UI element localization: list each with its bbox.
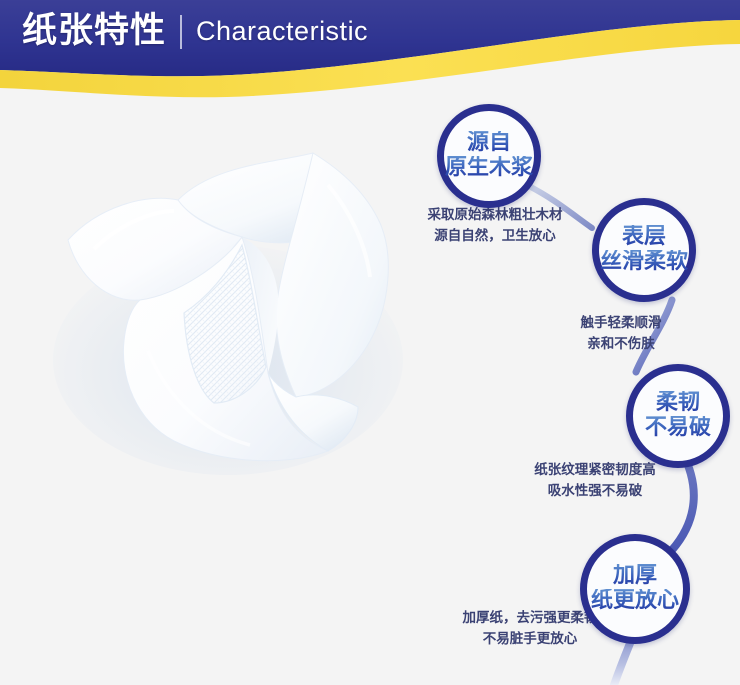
bubble-line-1: 加厚 [613, 564, 657, 589]
feature-caption-surface: 触手轻柔顺滑 亲和不伤肤 [531, 313, 711, 355]
feature-bubble-tough[interactable]: 柔韧 不易破 [626, 364, 730, 468]
bubble-line-1: 源自 [467, 131, 511, 156]
bubble-line-2: 原生木浆 [445, 156, 533, 181]
feature-page: 纸张特性 Characteristic [0, 0, 740, 685]
header-title-group: 纸张特性 Characteristic [22, 14, 368, 49]
feature-caption-source: 采取原始森林粗壮木材 源自自然，卫生放心 [395, 205, 595, 247]
caption-line-2: 吸水性强不易破 [490, 481, 700, 502]
caption-line-1: 采取原始森林粗壮木材 [395, 205, 595, 226]
feature-bubble-source[interactable]: 源自 原生木浆 [437, 104, 541, 208]
page-title-en: Characteristic [196, 18, 368, 45]
bubble-line-2: 纸更放心 [591, 589, 679, 614]
feature-bubble-thick[interactable]: 加厚 纸更放心 [580, 534, 690, 644]
title-divider [180, 15, 182, 49]
caption-line-1: 触手轻柔顺滑 [531, 313, 711, 334]
bubble-line-1: 表层 [622, 225, 666, 250]
page-title-cn: 纸张特性 [22, 14, 166, 49]
bubble-line-1: 柔韧 [656, 391, 700, 416]
bubble-line-2: 不易破 [645, 416, 711, 441]
caption-line-2: 亲和不伤肤 [531, 334, 711, 355]
caption-line-2: 源自自然，卫生放心 [395, 226, 595, 247]
feature-bubble-surface[interactable]: 表层 丝滑柔软 [592, 198, 696, 302]
bubble-line-2: 丝滑柔软 [600, 250, 688, 275]
